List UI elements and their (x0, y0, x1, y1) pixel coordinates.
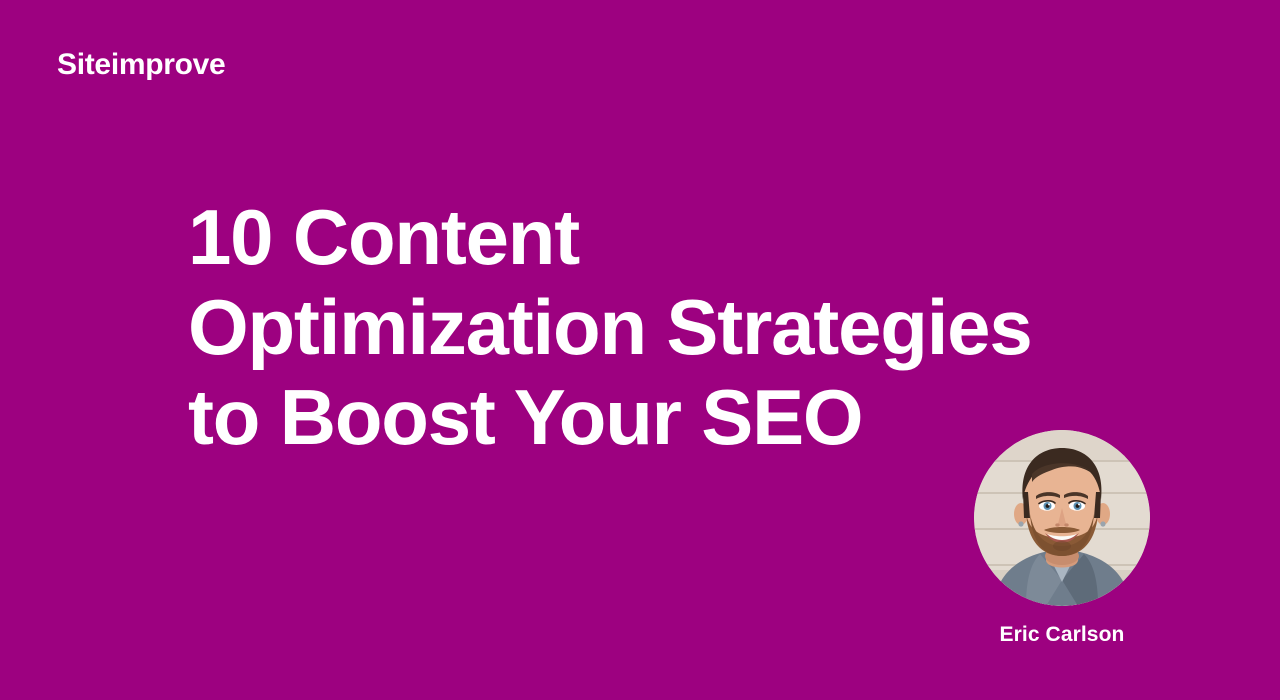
webinar-title-slide: Siteimprove 10 Content Optimization Stra… (0, 0, 1280, 700)
avatar (974, 430, 1150, 606)
siteimprove-logo: Siteimprove (57, 47, 225, 83)
presenter-headshot-photo-icon (974, 430, 1150, 606)
headline-line-1: 10 Content (188, 192, 1148, 282)
presenter-name: Eric Carlson (942, 622, 1182, 648)
presenter-block: Eric Carlson (942, 430, 1182, 648)
page-title: 10 Content Optimization Strategies to Bo… (188, 192, 1148, 462)
headline-line-2: Optimization Strategies (188, 282, 1148, 372)
